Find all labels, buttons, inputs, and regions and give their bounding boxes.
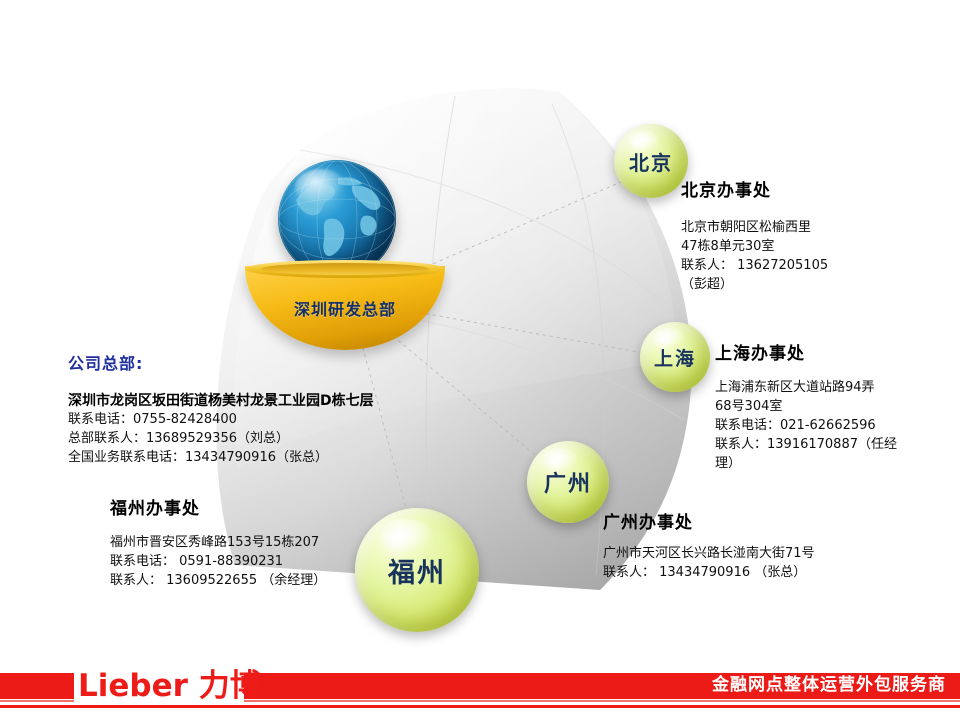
- hq-address: 深圳市龙岗区坂田街道杨美村龙景工业园D栋七层: [68, 390, 374, 410]
- slide-canvas: 深圳研发总部 北京 上海 广州 福州 北京办事处 北京市朝阳区松榆西里 47栋8…: [0, 0, 960, 720]
- sphere-label-fuzhou: 福州: [388, 551, 446, 590]
- hq-node-label: 深圳研发总部: [245, 296, 445, 320]
- gold-bowl-rim-inner: [261, 263, 429, 275]
- office-line: 联系人： 13609522655 （余经理）: [110, 571, 326, 590]
- office-title-beijing: 北京办事处: [681, 176, 771, 201]
- globe-highlight: [295, 169, 347, 204]
- office-body-shanghai: 上海浦东新区大道站路94弄 68号304室 联系电话：021-62662596 …: [715, 378, 897, 473]
- hq-line: 全国业务联系电话：13434790916（张总）: [68, 448, 328, 467]
- office-title-guangzhou: 广州办事处: [603, 508, 693, 533]
- office-line: 联系人：13916170887（任经: [715, 435, 897, 454]
- sphere-shanghai[interactable]: 上海: [640, 322, 710, 392]
- office-line: 福州市晋安区秀峰路153号15栋207: [110, 533, 326, 552]
- company-logo: Lieber 力博: [78, 667, 261, 705]
- hq-globe-node[interactable]: 深圳研发总部: [245, 160, 445, 350]
- sphere-fuzhou[interactable]: 福州: [355, 508, 479, 632]
- office-line: 北京市朝阳区松榆西里: [681, 218, 828, 237]
- office-line: 联系人： 13434790916 （张总）: [603, 563, 815, 582]
- footer-tagline: 金融网点整体运营外包服务商: [712, 672, 946, 699]
- hq-line: 总部联系人：13689529356（刘总）: [68, 429, 328, 448]
- office-line: 联系电话：021-62662596: [715, 416, 897, 435]
- background-fan: [0, 0, 960, 720]
- footer-bar-left-block: [0, 673, 74, 699]
- footer-underline-right: [244, 700, 960, 702]
- sphere-beijing[interactable]: 北京: [614, 124, 688, 198]
- office-line: 理）: [715, 454, 897, 473]
- office-body-fuzhou: 福州市晋安区秀峰路153号15栋207 联系电话： 0591-88390231 …: [110, 533, 326, 590]
- office-line: （彭超）: [681, 275, 828, 294]
- office-line: 联系人： 13627205105: [681, 256, 828, 275]
- footer-bar: Lieber 力博 金融网点整体运营外包服务商: [0, 668, 960, 720]
- office-line: 68号304室: [715, 397, 897, 416]
- office-body-guangzhou: 广州市天河区长兴路长湴南大街71号 联系人： 13434790916 （张总）: [603, 544, 815, 582]
- footer-underline-left: [0, 700, 74, 702]
- office-line: 联系电话： 0591-88390231: [110, 552, 326, 571]
- sphere-label-shanghai: 上海: [654, 344, 696, 371]
- office-title-shanghai: 上海办事处: [715, 339, 805, 364]
- office-line: 47栋8单元30室: [681, 237, 828, 256]
- sphere-guangzhou[interactable]: 广州: [527, 441, 609, 523]
- office-body-beijing: 北京市朝阳区松榆西里 47栋8单元30室 联系人： 13627205105 （彭…: [681, 218, 828, 294]
- office-line: 广州市天河区长兴路长湴南大街71号: [603, 544, 815, 563]
- hq-contact-lines: 联系电话：0755-82428400 总部联系人：13689529356（刘总）…: [68, 410, 328, 467]
- footer-thin-rule: [0, 705, 960, 708]
- hq-line: 联系电话：0755-82428400: [68, 410, 328, 429]
- sphere-label-guangzhou: 广州: [544, 466, 592, 498]
- hq-heading: 公司总部:: [68, 350, 143, 374]
- office-line: 上海浦东新区大道站路94弄: [715, 378, 897, 397]
- office-title-fuzhou: 福州办事处: [110, 494, 200, 519]
- sphere-label-beijing: 北京: [629, 147, 673, 176]
